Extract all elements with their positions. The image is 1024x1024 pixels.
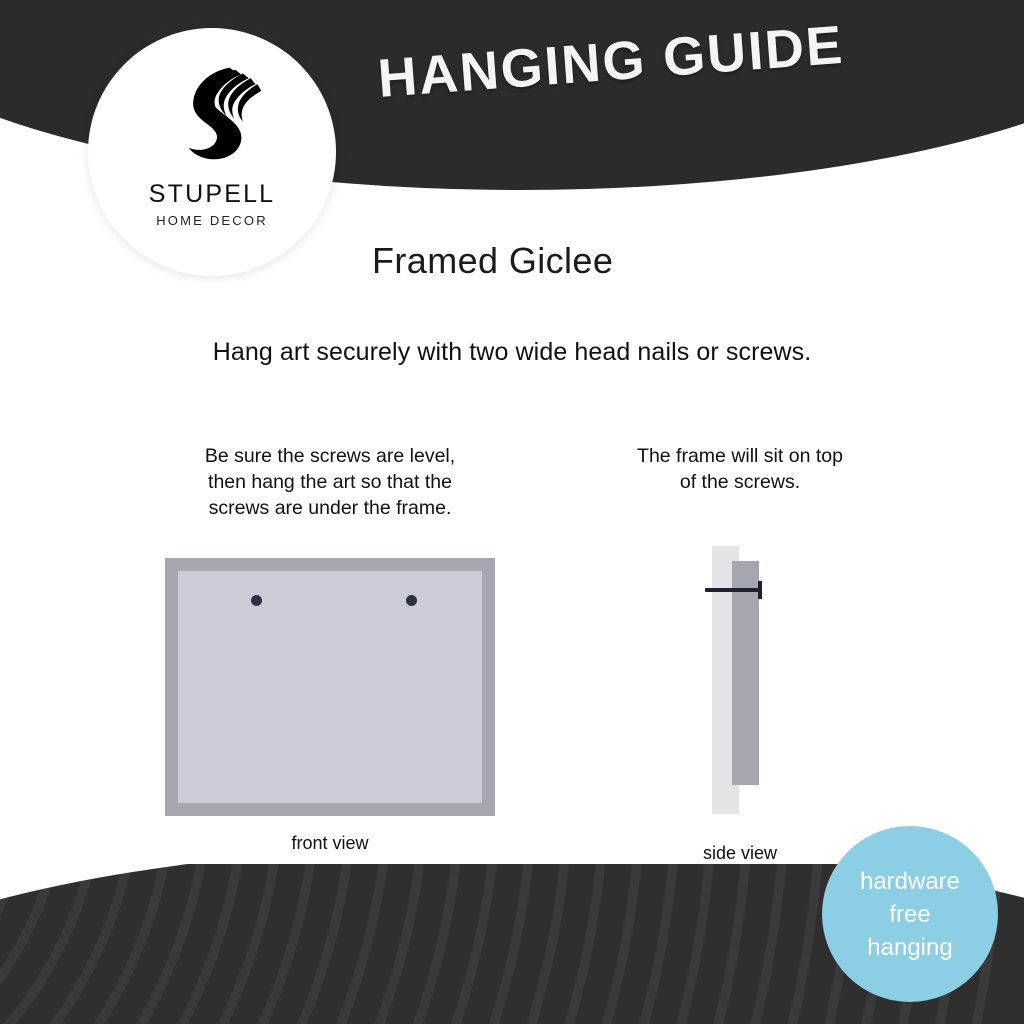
side-view-frame-graphic (732, 561, 759, 785)
frame-artwork-area (178, 571, 482, 803)
hardware-free-hanging-badge: hardware free hanging (822, 826, 998, 1002)
hanging-guide-infographic: STUPELL HOME DECOR HANGING GUIDE Framed … (0, 0, 1024, 1024)
intro-instruction: Hang art securely with two wide head nai… (0, 338, 1024, 367)
brand-logo-badge: STUPELL HOME DECOR (88, 28, 336, 276)
caption-line: then hang the art so that the (140, 469, 520, 495)
badge-line: hanging (867, 931, 952, 964)
badge-line: hardware (860, 865, 960, 898)
brand-name: STUPELL (149, 180, 276, 209)
caption-line: of the screws. (580, 469, 900, 495)
front-view-panel: Be sure the screws are level, then hang … (140, 443, 520, 521)
front-view-frame-graphic (165, 558, 495, 816)
badge-line: free (889, 898, 930, 931)
front-view-label: front view (140, 833, 520, 854)
diagram-panels: Be sure the screws are level, then hang … (0, 443, 1024, 873)
caption-line: The frame will sit on top (580, 443, 900, 469)
product-type-title: Framed Giclee (372, 240, 613, 282)
front-view-caption: Be sure the screws are level, then hang … (140, 443, 520, 521)
side-view-panel: The frame will sit on top of the screws.… (580, 443, 900, 495)
brand-subtitle: HOME DECOR (156, 213, 268, 228)
side-view-screw-shaft-icon (705, 588, 761, 592)
screw-dot-right-icon (406, 595, 417, 606)
side-view-screw-head-icon (758, 581, 762, 599)
screw-dot-left-icon (251, 595, 262, 606)
stupell-swoosh-icon (154, 58, 270, 174)
caption-line: screws are under the frame. (140, 495, 520, 521)
caption-line: Be sure the screws are level, (140, 443, 520, 469)
side-view-caption: The frame will sit on top of the screws. (580, 443, 900, 495)
